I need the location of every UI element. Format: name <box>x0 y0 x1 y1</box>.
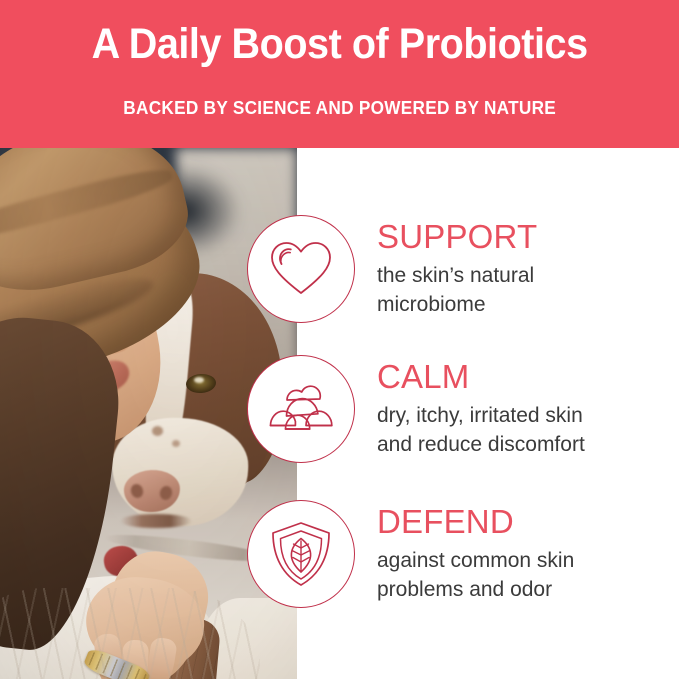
feature-text-calm: CALM dry, itchy, irritated skin and redu… <box>355 355 585 459</box>
clouds-icon <box>247 355 355 463</box>
shield-leaf-icon <box>247 500 355 608</box>
feature-item-support: SUPPORT the skin’s natural microbiome <box>247 215 537 323</box>
header-banner: A Daily Boost of Probiotics BACKED BY SC… <box>0 0 679 148</box>
feature-list: SUPPORT the skin’s natural microbiome <box>0 148 679 679</box>
feature-title-calm: CALM <box>377 359 585 395</box>
feature-description-line: dry, itchy, irritated skin <box>377 401 585 430</box>
feature-description-line: problems and odor <box>377 575 574 604</box>
probiotics-infographic: A Daily Boost of Probiotics BACKED BY SC… <box>0 0 679 679</box>
banner-subtitle: BACKED BY SCIENCE AND POWERED BY NATURE <box>123 97 556 119</box>
feature-description-line: and reduce discomfort <box>377 430 585 459</box>
feature-description-calm: dry, itchy, irritated skin and reduce di… <box>377 401 585 459</box>
feature-description-defend: against common skin problems and odor <box>377 546 574 604</box>
feature-description-support: the skin’s natural microbiome <box>377 261 537 319</box>
feature-description-line: microbiome <box>377 290 537 319</box>
feature-item-defend: DEFEND against common skin problems and … <box>247 500 574 608</box>
feature-description-line: the skin’s natural <box>377 261 537 290</box>
feature-description-line: against common skin <box>377 546 574 575</box>
feature-item-calm: CALM dry, itchy, irritated skin and redu… <box>247 355 585 463</box>
feature-text-defend: DEFEND against common skin problems and … <box>355 500 574 604</box>
feature-title-defend: DEFEND <box>377 504 574 540</box>
feature-title-support: SUPPORT <box>377 219 537 255</box>
feature-text-support: SUPPORT the skin’s natural microbiome <box>355 215 537 319</box>
banner-title: A Daily Boost of Probiotics <box>91 18 587 70</box>
heart-icon <box>247 215 355 323</box>
